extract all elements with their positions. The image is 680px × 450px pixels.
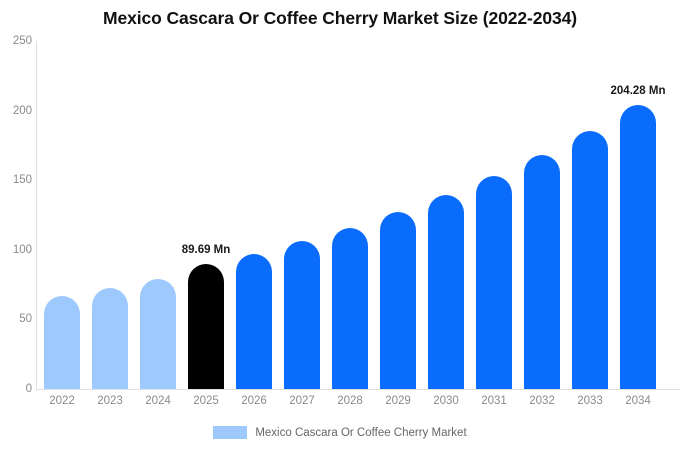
y-tick-label: 200 — [0, 105, 32, 117]
legend-item[interactable]: Mexico Cascara Or Coffee Cherry Market — [213, 426, 466, 439]
bar[interactable] — [620, 105, 656, 389]
x-tick-label: 2022 — [49, 395, 75, 407]
y-tick-label: 0 — [0, 383, 32, 395]
x-tick-label: 2025 — [193, 395, 219, 407]
x-tick-label: 2031 — [481, 395, 507, 407]
bar-value-label: 89.69 Mn — [182, 244, 231, 256]
bar-slot — [572, 41, 608, 389]
x-tick-label: 2030 — [433, 395, 459, 407]
bar-slot — [380, 41, 416, 389]
bar[interactable] — [572, 131, 608, 389]
x-tick-label: 2024 — [145, 395, 171, 407]
bar-chart: Mexico Cascara Or Coffee Cherry Market S… — [0, 0, 680, 450]
bar[interactable] — [284, 241, 320, 389]
x-tick-label: 2027 — [289, 395, 315, 407]
chart-title: Mexico Cascara Or Coffee Cherry Market S… — [0, 8, 680, 29]
bars-layer — [36, 41, 680, 389]
bar[interactable] — [44, 296, 80, 389]
bar-slot — [188, 41, 224, 389]
x-tick-label: 2033 — [577, 395, 603, 407]
x-tick-label: 2034 — [625, 395, 651, 407]
x-axis-line — [36, 389, 680, 390]
y-tick-label: 150 — [0, 174, 32, 186]
bar[interactable] — [236, 254, 272, 389]
bar[interactable] — [524, 155, 560, 389]
y-tick-label: 100 — [0, 244, 32, 256]
y-tick-label: 250 — [0, 35, 32, 47]
x-tick-label: 2028 — [337, 395, 363, 407]
bar-slot — [476, 41, 512, 389]
bar[interactable] — [140, 279, 176, 389]
bar-slot — [524, 41, 560, 389]
bar-value-label: 204.28 Mn — [611, 85, 666, 97]
bar-slot — [140, 41, 176, 389]
bar-slot — [44, 41, 80, 389]
legend-label: Mexico Cascara Or Coffee Cherry Market — [255, 427, 466, 439]
chart-legend: Mexico Cascara Or Coffee Cherry Market — [0, 426, 680, 439]
bar[interactable] — [476, 176, 512, 389]
legend-swatch-icon — [213, 426, 247, 439]
x-tick-label: 2026 — [241, 395, 267, 407]
y-tick-label: 50 — [0, 313, 32, 325]
bar[interactable] — [428, 195, 464, 389]
x-tick-label: 2029 — [385, 395, 411, 407]
bar[interactable] — [92, 288, 128, 389]
bar[interactable] — [332, 228, 368, 389]
bar-slot — [332, 41, 368, 389]
bar-slot — [428, 41, 464, 389]
bar-slot — [284, 41, 320, 389]
bar-slot — [236, 41, 272, 389]
x-tick-label: 2032 — [529, 395, 555, 407]
x-tick-label: 2023 — [97, 395, 123, 407]
bar[interactable] — [188, 264, 224, 389]
bar[interactable] — [380, 212, 416, 389]
bar-slot — [92, 41, 128, 389]
